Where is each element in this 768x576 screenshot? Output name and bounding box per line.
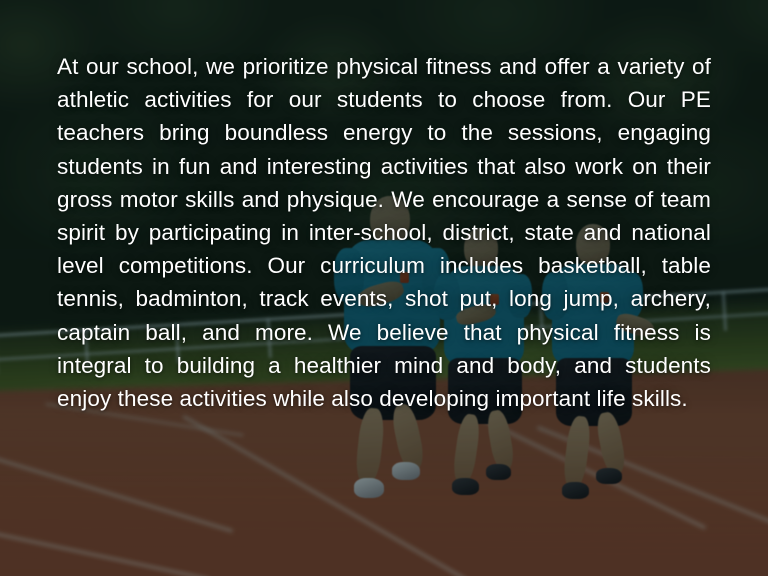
slide-canvas: At our school, we prioritize physical fi…	[0, 0, 768, 576]
text-content-layer: At our school, we prioritize physical fi…	[0, 0, 768, 576]
body-paragraph: At our school, we prioritize physical fi…	[57, 50, 711, 415]
